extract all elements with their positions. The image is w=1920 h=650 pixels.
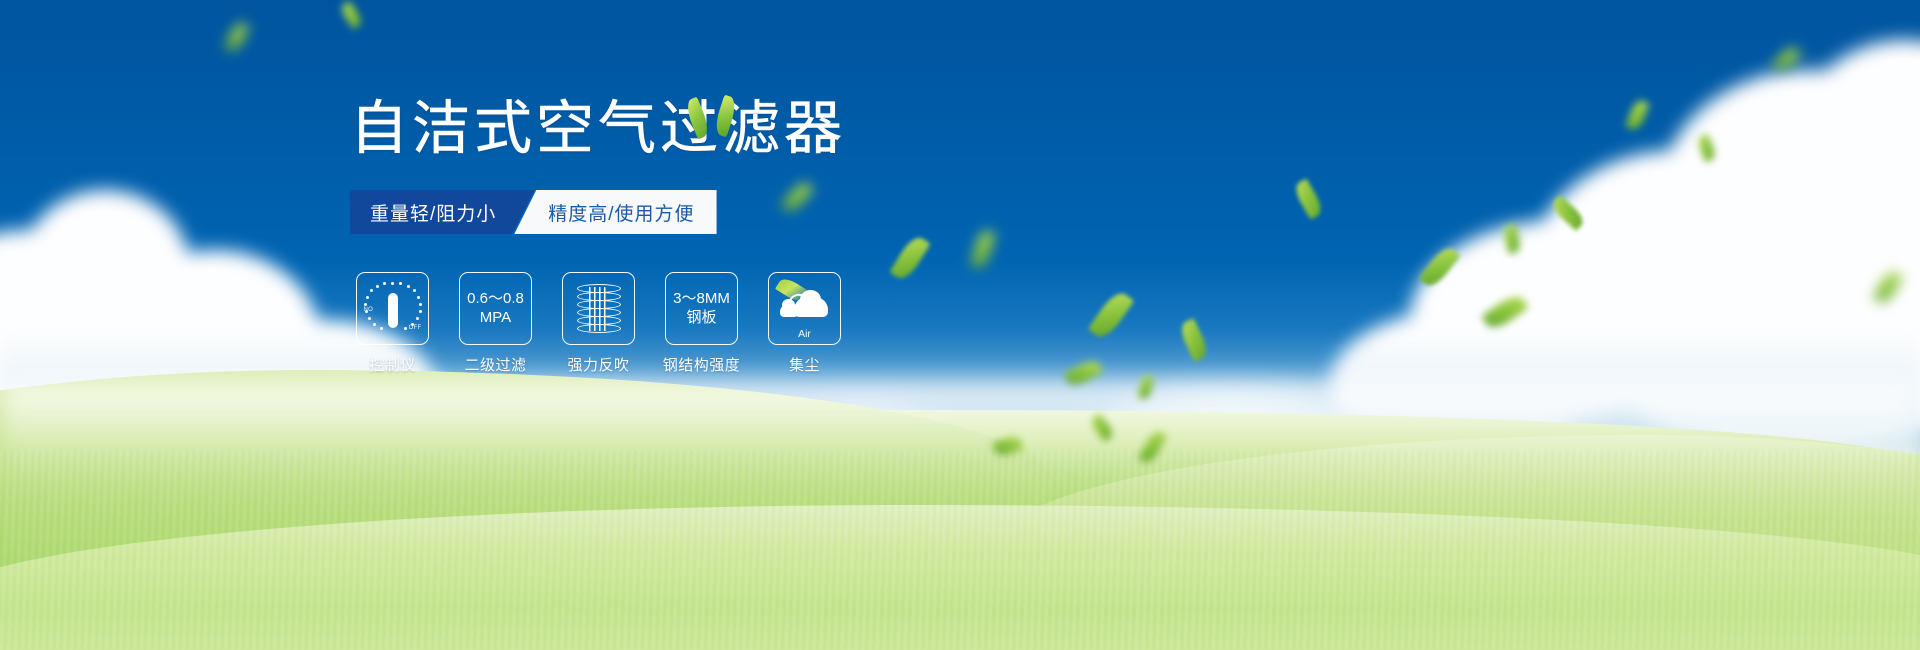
feature-label: 钢结构强度 (663, 354, 741, 375)
feature-icon-box (562, 272, 635, 345)
pressure-text-icon: 0.6～0.8 (467, 290, 524, 309)
steel-thickness-text-icon: 3～8MM (673, 290, 730, 309)
leaf-decoration (224, 20, 249, 53)
air-coil-icon (577, 284, 621, 334)
badge-weight-resistance: 重量轻/阻力小 (350, 190, 534, 234)
feature-label: 强力反吹 (567, 354, 629, 375)
feature-icon-box: Air (768, 272, 841, 345)
leaf-decoration (889, 233, 930, 283)
badge-label: 重量轻/阻力小 (370, 199, 496, 226)
leaf-decoration (781, 179, 814, 215)
feature-item-steel-strength[interactable]: 3～8MM 钢板 钢结构强度 (665, 272, 738, 375)
feature-item-backblow[interactable]: 强力反吹 (562, 272, 635, 375)
feature-item-secondary-filter[interactable]: 0.6～0.8 MPA 二级过滤 (459, 272, 532, 375)
feature-item-dust-collection[interactable]: Air 集尘 (768, 272, 841, 375)
feature-icon-box: NO OFF (356, 272, 429, 345)
badge-label: 精度高/使用方便 (548, 199, 694, 226)
leaf-decoration (339, 1, 365, 30)
feature-label: 控制仪 (369, 354, 416, 375)
feature-label: 集尘 (789, 354, 820, 375)
feature-label: 二级过滤 (464, 354, 526, 375)
gauge-dial-icon: NO OFF (365, 281, 421, 337)
hero-text-block: 自洁式空气过滤器 (350, 100, 1070, 158)
gauge-off-label: OFF (409, 325, 422, 333)
tagline-badges: 重量轻/阻力小 精度高/使用方便 (350, 190, 717, 234)
steel-plate-text: 钢板 (686, 309, 716, 328)
pressure-unit-text: MPA (480, 309, 511, 328)
grass-texture-overlay (0, 450, 1920, 650)
feature-icon-box: 0.6～0.8 MPA (459, 272, 532, 345)
leaf-decoration (970, 229, 995, 270)
air-label: Air (780, 328, 830, 341)
sprout-leaves-icon (688, 92, 758, 142)
feature-icon-row: NO OFF 控制仪 0.6～0.8 MPA 二级过滤 (356, 272, 841, 375)
gauge-on-label: NO (364, 307, 374, 315)
feature-icon-box: 3～8MM 钢板 (665, 272, 738, 345)
feature-item-controller[interactable]: NO OFF 控制仪 (356, 272, 429, 375)
air-cloud-icon: Air (780, 289, 830, 329)
product-hero-banner: 自洁式空气过滤器 重量轻/阻力小 精度高/使用方便 (0, 0, 1920, 650)
badge-precision-ease: 精度高/使用方便 (514, 190, 716, 234)
